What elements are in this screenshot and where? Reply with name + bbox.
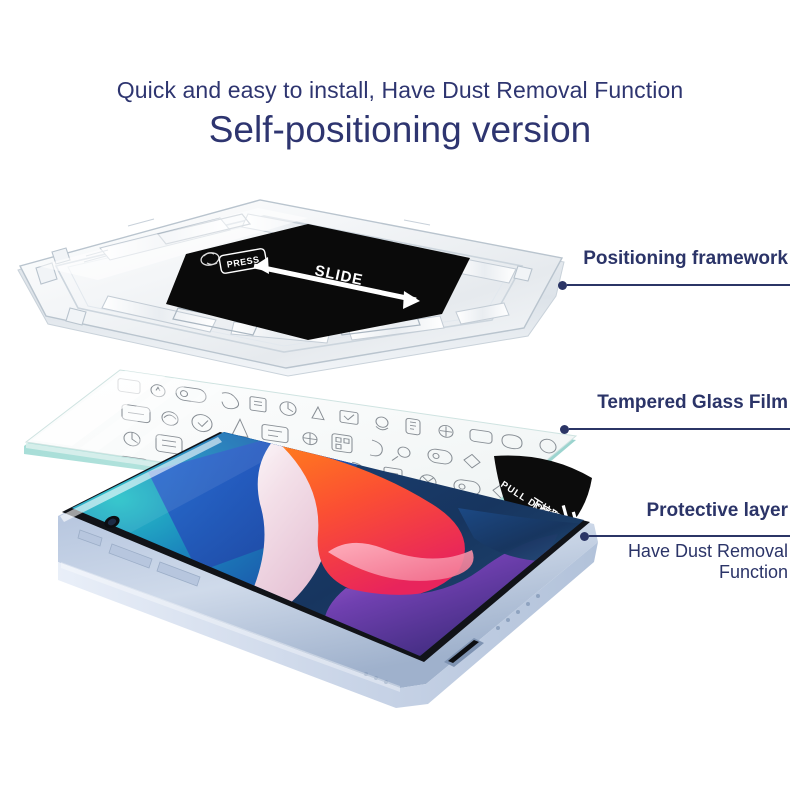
leader-line [567, 284, 790, 286]
headline-subtitle: Quick and easy to install, Have Dust Rem… [0, 78, 800, 103]
callout-tempered-glass-film: Tempered Glass Film [556, 392, 788, 414]
callout-protective-layer-sub-line2: Function [556, 562, 788, 583]
callout-protective-layer: Protective layer [556, 500, 788, 522]
callout-positioning-framework: Positioning framework [556, 248, 788, 270]
headline-block: Quick and easy to install, Have Dust Rem… [0, 78, 800, 154]
headline-title: Self-positioning version [0, 107, 800, 153]
leader-line [569, 428, 790, 430]
callout-protective-layer-sub-line1: Have Dust Removal [556, 541, 788, 562]
leader-tempered-glass-film [560, 424, 790, 434]
callout-tempered-glass-film-label: Tempered Glass Film [556, 392, 788, 414]
product-exploded-view-image: Quick and easy to install, Have Dust Rem… [0, 0, 800, 800]
leader-line [589, 535, 790, 537]
smartphone-layer [28, 412, 608, 722]
leader-protective-layer [580, 531, 790, 541]
leader-dot [580, 532, 589, 541]
callout-protective-layer-sub: Have Dust Removal Function [556, 541, 788, 583]
leader-positioning-framework [558, 280, 790, 290]
leader-dot [560, 425, 569, 434]
callout-positioning-framework-label: Positioning framework [556, 248, 788, 270]
leader-dot [558, 281, 567, 290]
callout-protective-layer-label: Protective layer [556, 500, 788, 522]
